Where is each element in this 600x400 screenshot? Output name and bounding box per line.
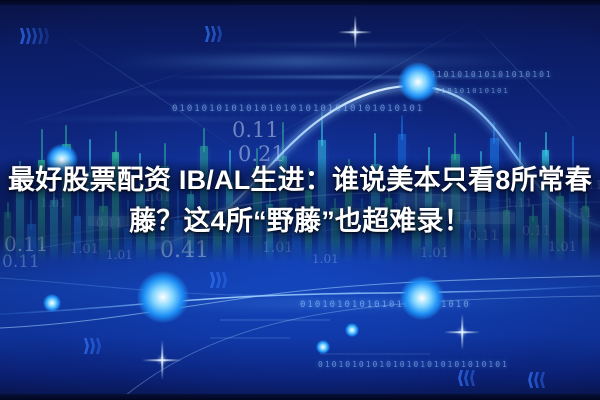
banner-image: 0.110.210.110.110.411.011.011.011.011.01… xyxy=(0,0,600,400)
headline: 最好股票配资 IB/AL生进：谁说美本只看8所常春 藤？这4所“野藤”也超难录！ xyxy=(0,160,600,242)
top-edge xyxy=(0,0,600,5)
headline-line-2: 藤？这4所“野藤”也超难录！ xyxy=(6,201,594,242)
headline-line-1: 最好股票配资 IB/AL生进：谁说美本只看8所常春 xyxy=(6,160,594,201)
bottom-edge xyxy=(0,394,600,400)
